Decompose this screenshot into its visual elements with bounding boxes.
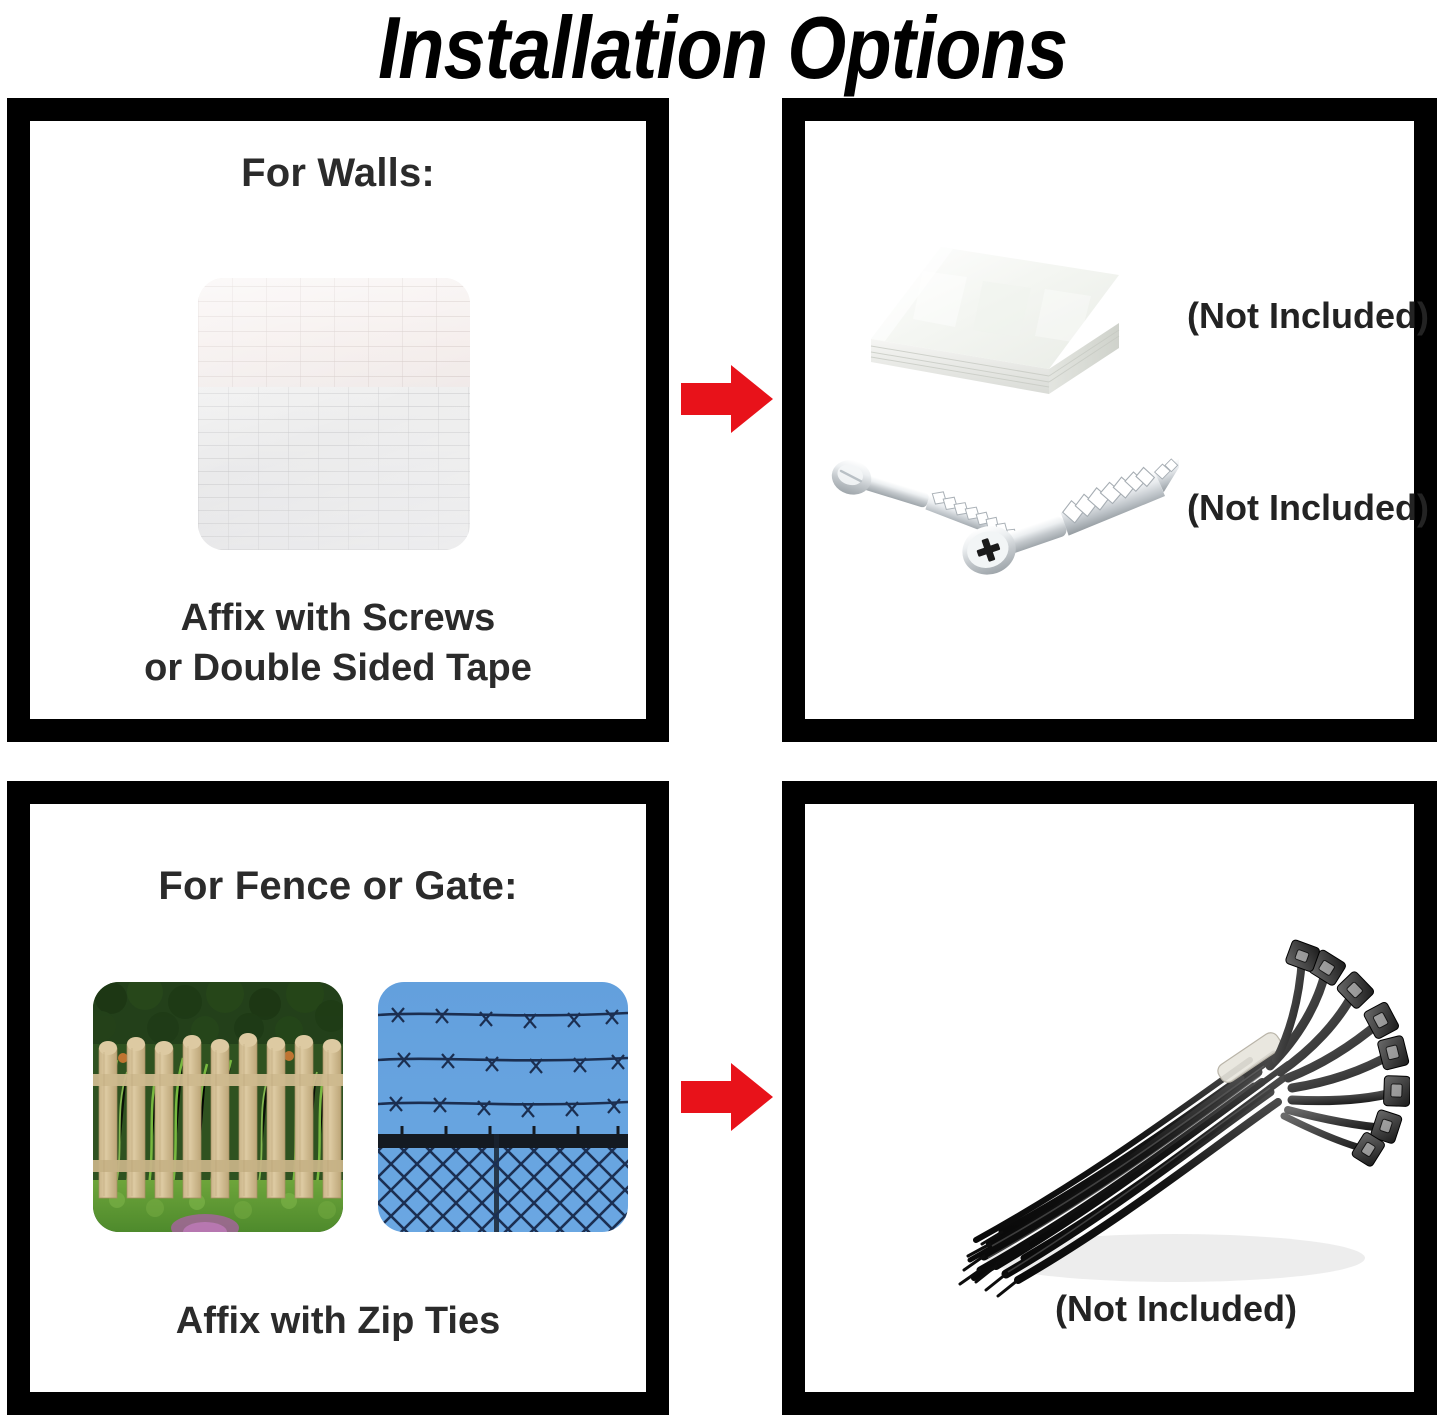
walls-caption-line-2: or Double Sided Tape	[30, 643, 646, 693]
panel-for-walls: For Walls: Affix with Screws or Double S…	[7, 98, 669, 742]
panel-zip-ties: (Not Included)	[782, 781, 1437, 1415]
panel-wall-hardware: (Not Included)	[782, 98, 1437, 742]
wooden-picket-fence-photo	[93, 982, 343, 1232]
installation-options-grid: For Walls: Affix with Screws or Double S…	[0, 95, 1445, 1422]
wood-screws-pair	[823, 446, 1179, 626]
for-walls-heading: For Walls:	[30, 151, 646, 196]
red-right-arrow-icon-top	[681, 363, 773, 435]
black-zip-ties-bundle	[940, 926, 1410, 1326]
double-sided-tape-stack	[863, 231, 1127, 409]
chain-link-barbed-wire-fence-photo	[378, 982, 628, 1232]
page-title: Installation Options	[378, 4, 1067, 92]
screws-not-included-label: (Not Included)	[1187, 487, 1429, 529]
tape-not-included-label: (Not Included)	[1187, 295, 1429, 337]
red-right-arrow-icon-bottom	[681, 1061, 773, 1133]
for-fence-or-gate-heading: For Fence or Gate:	[30, 864, 646, 909]
panel-for-fence-or-gate: For Fence or Gate:	[7, 781, 669, 1415]
page-title-bar: Installation Options	[0, 0, 1445, 95]
white-brick-wall-photo	[198, 278, 470, 550]
zip-ties-not-included-label: (Not Included)	[1055, 1288, 1297, 1330]
fence-caption: Affix with Zip Ties	[30, 1296, 646, 1346]
walls-caption-line-1: Affix with Screws	[30, 593, 646, 643]
